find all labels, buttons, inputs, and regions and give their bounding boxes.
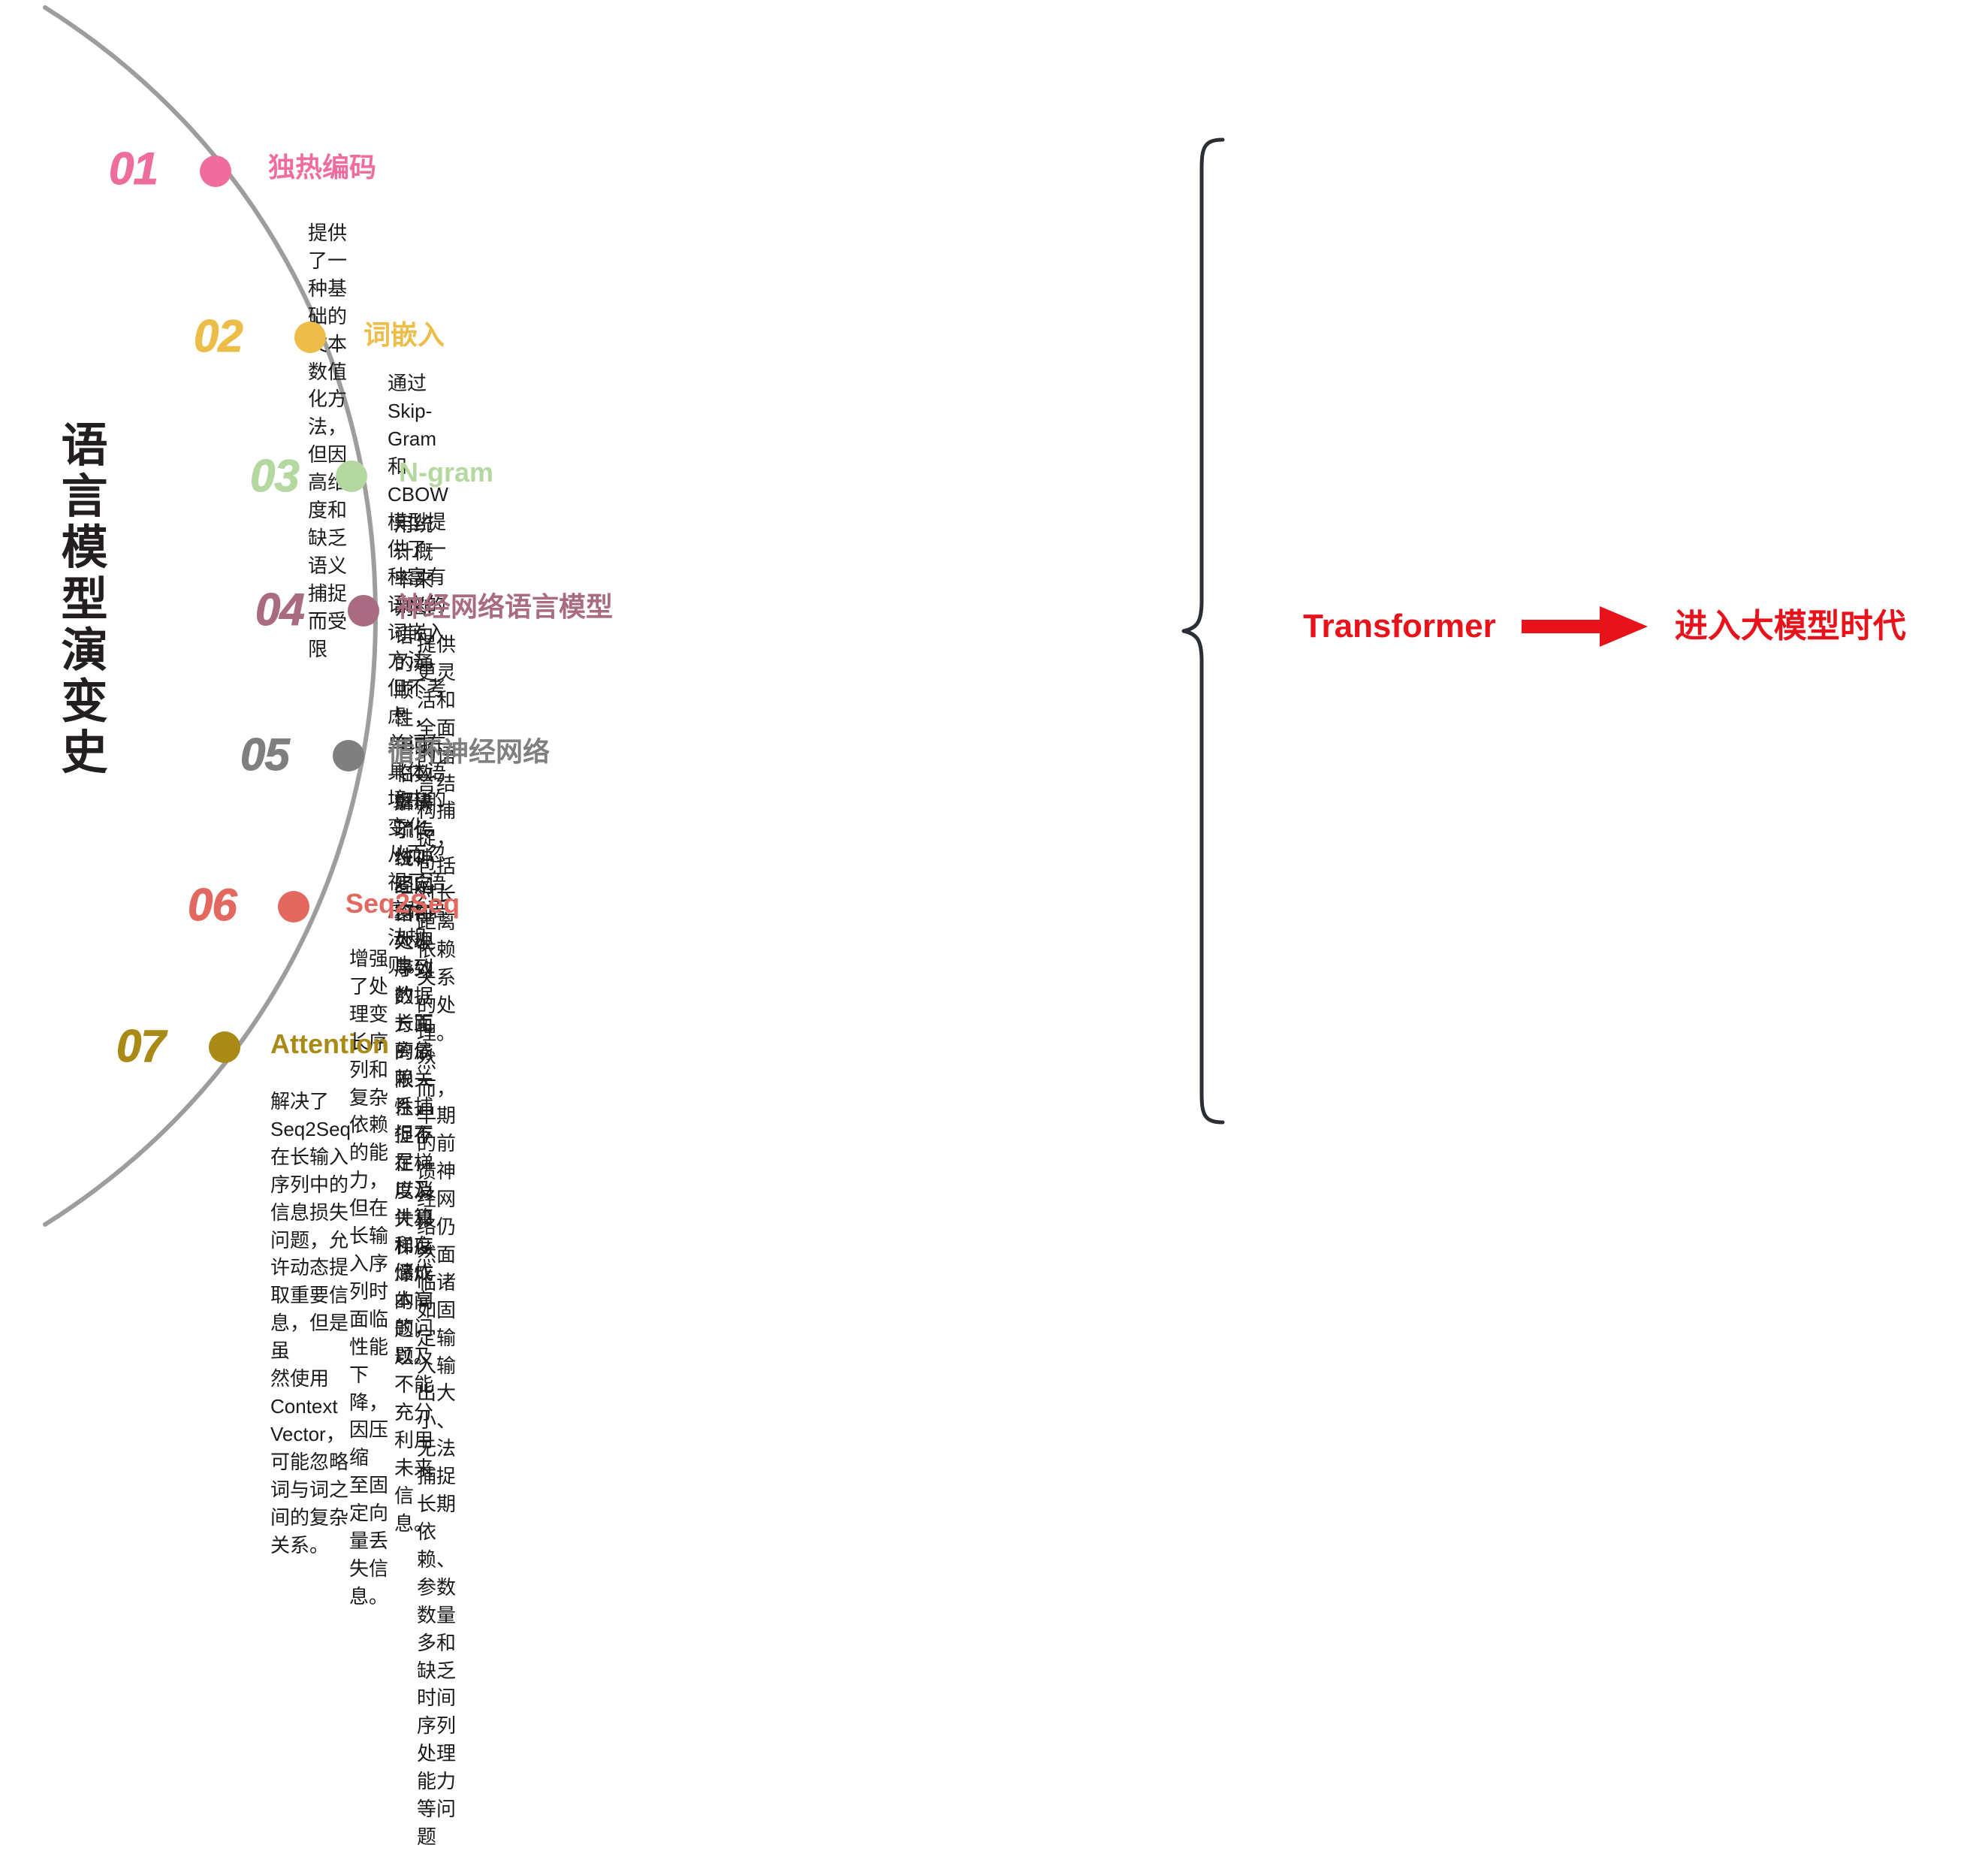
title-char: 言 xyxy=(44,472,126,523)
transformer-label: Transformer xyxy=(1303,610,1496,643)
title-char: 型 xyxy=(44,575,126,626)
step-title: 词嵌入 xyxy=(364,322,445,349)
step-dot xyxy=(278,891,309,922)
step-description: 解决了Seq2Seq在长输入序列中的信息损失问题，允许动态提取重要信息，但是虽 … xyxy=(270,1088,351,1559)
step-dot xyxy=(336,460,367,492)
step-number: 06 xyxy=(188,883,237,928)
step-number: 03 xyxy=(250,454,299,499)
big-model-era-label: 进入大模型时代 xyxy=(1675,610,1906,643)
step-title: 神经网络语言模型 xyxy=(397,593,613,621)
step-number: 04 xyxy=(255,587,304,633)
step-dot xyxy=(209,1031,240,1063)
title-char: 史 xyxy=(44,728,126,779)
step-description: 提供了一种基础的文本数值化方法，但因高维度和缺乏语义捕捉而受限 xyxy=(308,219,347,663)
step-number: 01 xyxy=(109,146,158,192)
step-number: 07 xyxy=(116,1024,165,1069)
step-dot xyxy=(294,322,326,353)
step-title: Attention xyxy=(270,1031,389,1058)
step-title: 循环神经网络 xyxy=(388,738,550,765)
step-title: N-gram xyxy=(399,459,493,486)
title-char: 语 xyxy=(44,421,126,472)
title-char: 演 xyxy=(44,626,126,677)
grouping-brace xyxy=(1172,135,1322,1127)
diagram-canvas: 语 言 模 型 演 变 史 01 独热编码 提供了一种基础的文本数值化方法，但因… xyxy=(0,0,1988,1231)
conclusion-block: Transformer 进入大模型时代 xyxy=(1303,605,1906,648)
step-dot xyxy=(333,740,364,772)
right-arrow-icon xyxy=(1522,605,1649,648)
step-dot xyxy=(200,156,231,187)
page-title: 语 言 模 型 演 变 史 xyxy=(44,421,126,779)
step-number: 05 xyxy=(240,732,289,778)
title-char: 模 xyxy=(44,523,126,574)
step-dot xyxy=(348,595,379,627)
step-title: Seq2Seq xyxy=(345,890,460,917)
step-title: 独热编码 xyxy=(268,154,376,181)
step-number: 02 xyxy=(194,314,243,359)
title-char: 变 xyxy=(44,677,126,728)
